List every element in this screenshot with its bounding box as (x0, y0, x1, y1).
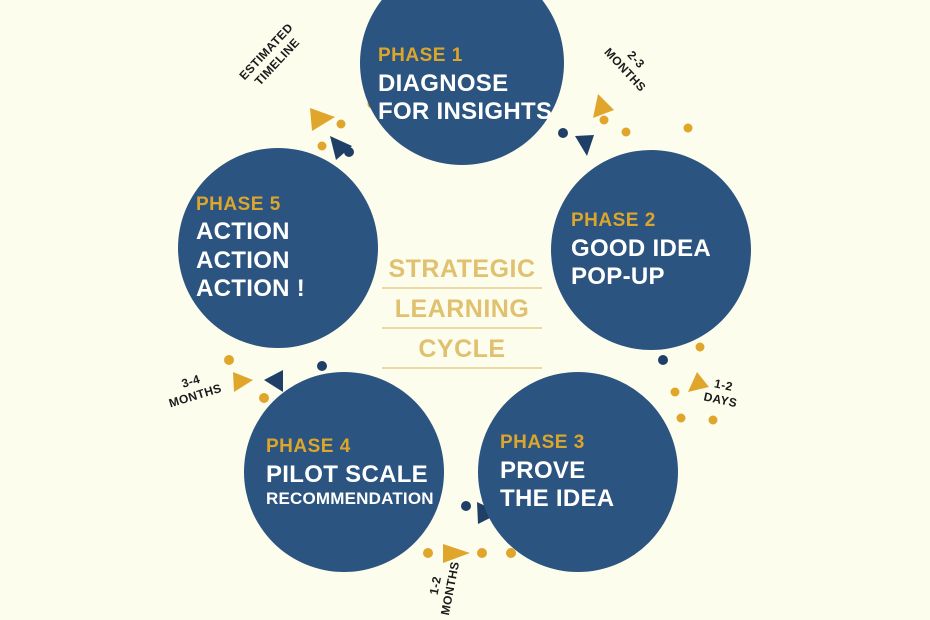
phase5-line2: ACTION ! (196, 275, 378, 303)
phase2-line2: POP-UP (571, 263, 751, 291)
phase-circle-phase5[interactable]: PHASE 5 ACTION ACTION ACTION ! (178, 148, 378, 348)
phase2-kicker: PHASE 2 (571, 209, 751, 233)
diagram-canvas: PHASE 1 DIAGNOSE FOR INSIGHTS PHASE 2 GO… (0, 0, 930, 620)
phase5-kicker: PHASE 5 (196, 193, 378, 217)
center-title: STRATEGIC LEARNING CYCLE (382, 252, 542, 372)
phase4-kicker: PHASE 4 (266, 435, 444, 459)
phase1-kicker: PHASE 1 (378, 44, 564, 68)
center-title-line1: STRATEGIC (382, 252, 542, 289)
phase-circle-phase4[interactable]: PHASE 4 PILOT SCALE RECOMMENDATION (244, 372, 444, 572)
phase1-line1: DIAGNOSE (378, 70, 564, 98)
phase2-line1: GOOD IDEA (571, 235, 751, 263)
connector-phase1-to-phase2 (558, 94, 693, 161)
phase5-line1: ACTION ACTION (196, 218, 378, 275)
phase4-line2: RECOMMENDATION (266, 489, 444, 509)
phase3-line1: PROVE (500, 457, 678, 485)
phase4-line1: PILOT SCALE (266, 461, 444, 489)
phase-circle-phase3[interactable]: PHASE 3 PROVE THE IDEA (478, 372, 678, 572)
phase1-line2: FOR INSIGHTS (378, 98, 564, 126)
phase3-kicker: PHASE 3 (500, 431, 678, 455)
center-title-line2: LEARNING (382, 292, 542, 329)
center-title-line3: CYCLE (382, 332, 542, 369)
phase-circle-phase2[interactable]: PHASE 2 GOOD IDEA POP-UP (551, 150, 751, 350)
phase3-line2: THE IDEA (500, 485, 678, 513)
